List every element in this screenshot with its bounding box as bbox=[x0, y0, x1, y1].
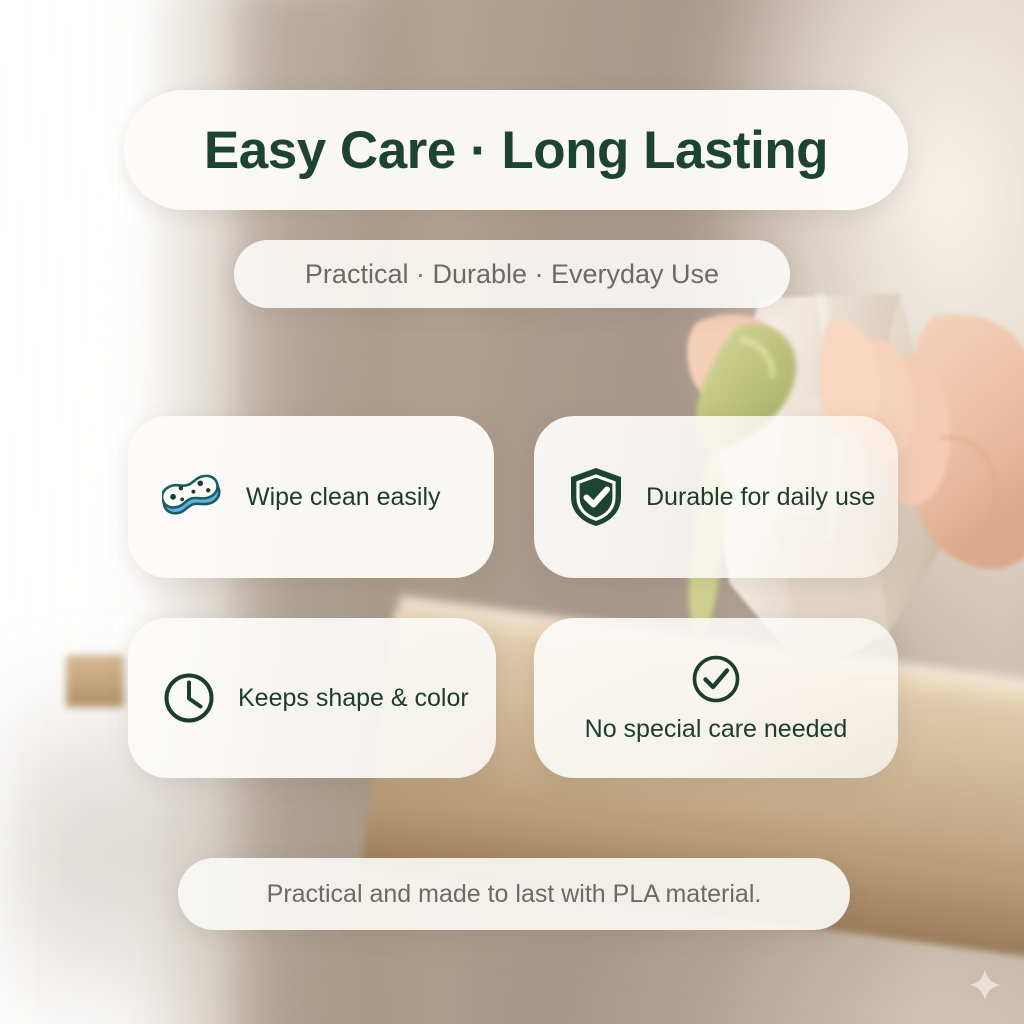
title-pill: Easy Care · Long Lasting bbox=[124, 90, 908, 210]
sparkle-icon bbox=[968, 968, 1002, 1002]
page-subtitle: Practical · Durable · Everyday Use bbox=[305, 259, 719, 290]
feature-label-wipe-clean: Wipe clean easily bbox=[246, 483, 441, 512]
feature-card-durable[interactable]: Durable for daily use bbox=[534, 416, 898, 578]
feature-card-keeps-shape[interactable]: Keeps shape & color bbox=[128, 618, 496, 778]
page-title: Easy Care · Long Lasting bbox=[204, 120, 828, 181]
poster-canvas: Easy Care · Long Lasting Practical · Dur… bbox=[0, 0, 1024, 1024]
shield-check-icon bbox=[568, 466, 624, 528]
footer-pill: Practical and made to last with PLA mate… bbox=[178, 858, 850, 930]
clock-icon bbox=[162, 671, 216, 725]
subtitle-pill: Practical · Durable · Everyday Use bbox=[234, 240, 790, 308]
sponge-icon bbox=[162, 472, 224, 522]
feature-card-wipe-clean[interactable]: Wipe clean easily bbox=[128, 416, 494, 578]
feature-label-no-care: No special care needed bbox=[585, 715, 848, 744]
feature-card-no-care[interactable]: No special care needed bbox=[534, 618, 898, 778]
feature-label-keeps-shape: Keeps shape & color bbox=[238, 684, 469, 713]
check-circle-icon bbox=[690, 653, 742, 705]
feature-label-durable: Durable for daily use bbox=[646, 483, 875, 512]
footer-text: Practical and made to last with PLA mate… bbox=[267, 880, 762, 909]
shelf-bracket bbox=[66, 655, 124, 707]
